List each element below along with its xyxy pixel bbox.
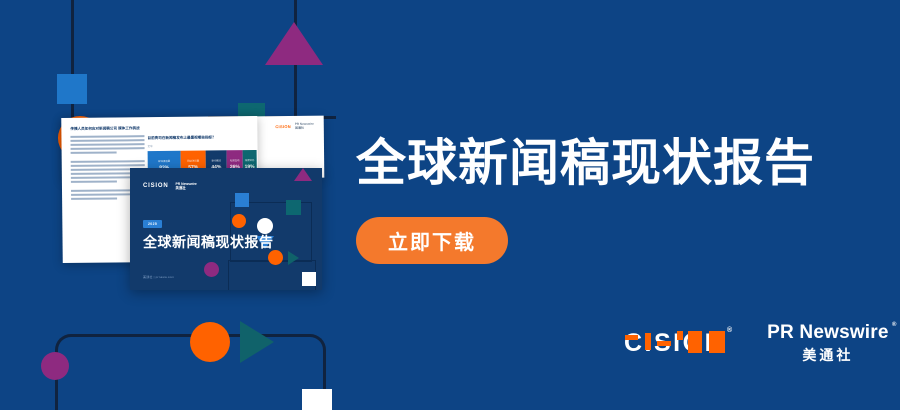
brand-logo-group: CISION ® PR Newswire ® 美通社 xyxy=(624,322,889,365)
prnewswire-logo: PR Newswire ® 美通社 xyxy=(767,322,889,365)
cover-decor-triangle-purple xyxy=(294,168,312,181)
decor-square-white-bottom xyxy=(302,389,332,410)
cover-prnewswire-cn: 美通社 xyxy=(175,186,185,190)
decor-triangle-teal-bottom xyxy=(240,321,274,363)
download-button[interactable]: 立即下载 xyxy=(356,217,508,264)
cision-logo-text: CISION xyxy=(624,329,725,357)
document-heading: 传播人员如何应对新闻稿公司 媒体工作挑战 xyxy=(70,126,142,132)
chart-bar-category: 媒体报道量 xyxy=(158,161,170,164)
cover-footer-text: 美通社 | prnasia.com xyxy=(143,275,174,279)
decor-circle-purple-bottom xyxy=(41,352,69,380)
promo-banner: CISION PR Newswire 美通社 传播人员如何应对新闻稿公司 媒体工… xyxy=(0,0,900,410)
cover-decor-square-blue xyxy=(235,193,249,207)
document-prnewswire-cn: 美通社 xyxy=(295,125,304,129)
chart-bar-category: 社媒互动 xyxy=(230,161,240,164)
cover-decor-square-teal xyxy=(286,200,301,215)
cover-year-badge: 2025 xyxy=(143,220,162,228)
document-cision-logo: CISION xyxy=(275,124,291,129)
cover-title: 全球新闻稿现状报告 xyxy=(143,232,274,252)
cover-logo-group: CISION PR Newswire 美通社 xyxy=(143,182,197,191)
cision-logo: CISION ® xyxy=(624,329,725,358)
cover-decor-circle-purple xyxy=(204,262,219,277)
decor-triangle-purple-top xyxy=(265,22,323,65)
decor-square-blue-top xyxy=(57,74,87,104)
prnewswire-logo-en-wrap: PR Newswire ® xyxy=(767,322,889,344)
cover-cision-logo: CISION xyxy=(143,183,168,189)
cover-decor-circle-orange-top xyxy=(232,214,246,228)
chart-subtitle: 全球 xyxy=(148,143,259,148)
cision-trademark: ® xyxy=(727,327,732,334)
document-mockup-logo: CISION PR Newswire 美通社 xyxy=(275,123,314,131)
page-title: 全球新闻稿现状报告 xyxy=(356,123,815,195)
report-cover-mockup: CISION PR Newswire 美通社 2025 全球新闻稿现状报告 美通… xyxy=(130,168,322,290)
chart-bar-category: 受众触达 xyxy=(211,161,221,164)
prnewswire-logo-en: PR Newswire xyxy=(767,322,889,343)
prnewswire-logo-cn: 美通社 xyxy=(767,345,889,365)
cover-decor-triangle-teal xyxy=(288,251,299,265)
decor-circle-orange-bottom xyxy=(190,322,230,362)
prnewswire-trademark: ® xyxy=(892,322,897,328)
chart-title: 目前贵司在新闻稿发布上最重视哪些指标？ xyxy=(147,135,258,141)
cover-decor-circle-orange-bottom xyxy=(268,250,283,265)
chart-bar-category: 网站访问量 xyxy=(187,161,199,164)
cover-decor-square-white xyxy=(302,272,316,286)
chart-bar-category: 线索转化 xyxy=(245,160,255,163)
